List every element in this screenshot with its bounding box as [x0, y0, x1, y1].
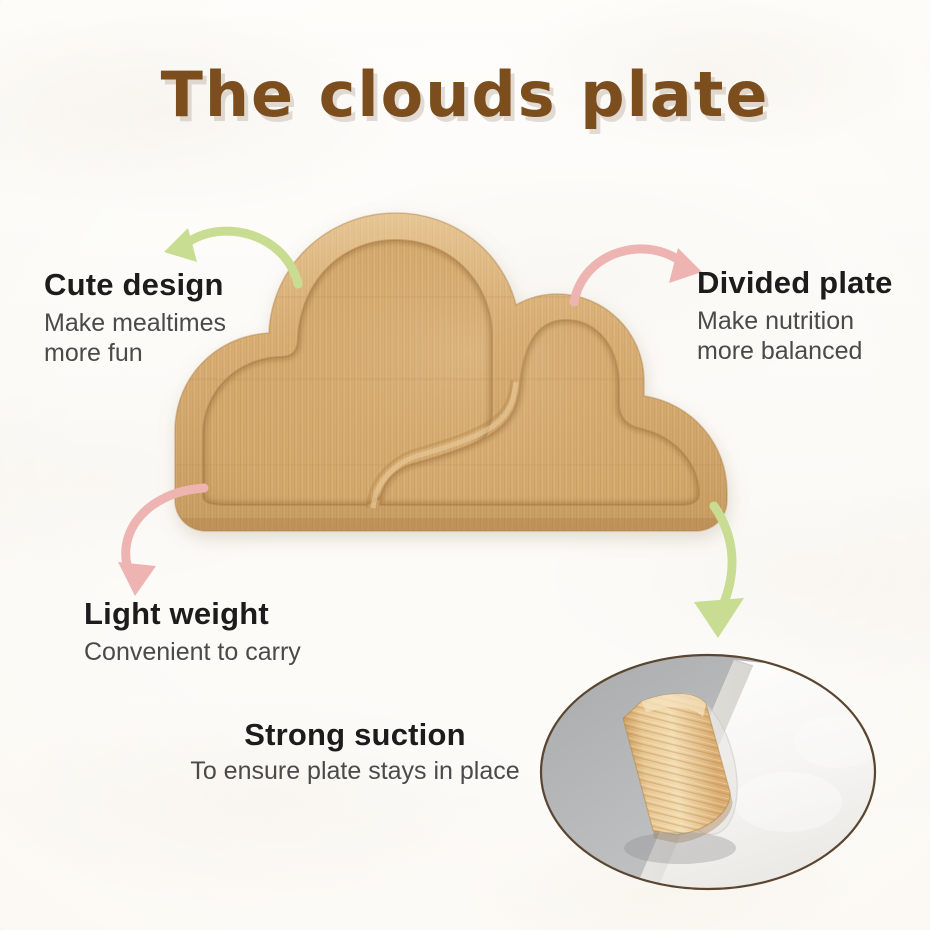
- feature-divided-plate: Divided plate Make nutrition more balanc…: [697, 266, 893, 366]
- suction-detail-oval-photo: [538, 652, 878, 892]
- feature-strong-suction: Strong suction To ensure plate stays in …: [170, 718, 540, 787]
- feature-subtext: Make mealtimes more fun: [44, 309, 226, 368]
- product-infographic: The clouds plate: [0, 0, 930, 930]
- feature-subtext: To ensure plate stays in place: [170, 757, 540, 787]
- feature-heading: Light weight: [84, 597, 301, 631]
- feature-subtext: Make nutrition more balanced: [697, 307, 893, 366]
- feature-heading: Strong suction: [170, 718, 540, 752]
- feature-light-weight: Light weight Convenient to carry: [84, 597, 301, 668]
- arrow-pink-to-divided-plate: [566, 228, 716, 318]
- feature-cute-design: Cute design Make mealtimes more fun: [44, 268, 226, 368]
- feature-heading: Cute design: [44, 268, 226, 302]
- arrow-pink-to-light-weight: [108, 478, 228, 608]
- arrow-green-to-strong-suction: [676, 498, 786, 648]
- feature-subtext: Convenient to carry: [84, 638, 301, 668]
- feature-heading: Divided plate: [697, 266, 893, 300]
- page-title: The clouds plate: [0, 58, 930, 131]
